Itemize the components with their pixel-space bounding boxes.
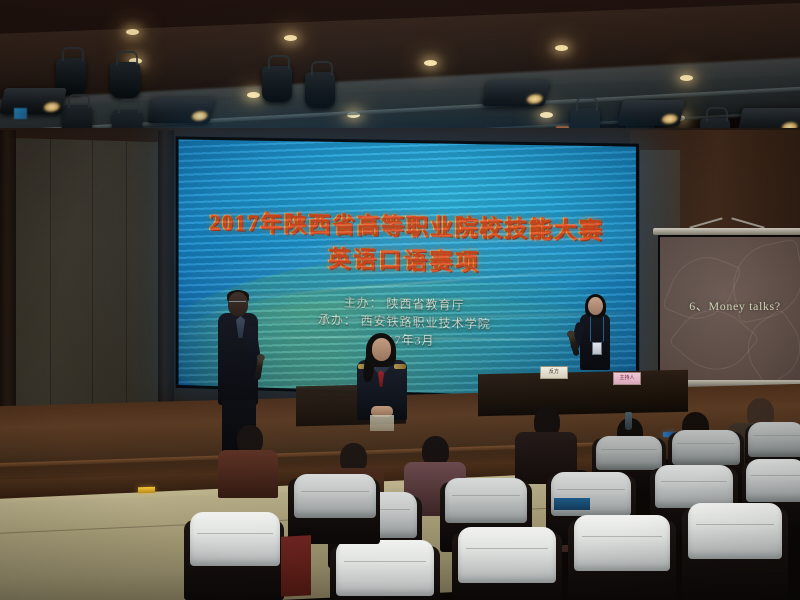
downlight-icon [284,35,297,41]
downlight-icon [247,92,260,98]
nameplate: 反方 [540,366,568,379]
head-table [478,370,688,416]
screen-roller-bar [653,228,800,235]
seat-headrest-cover [672,430,740,465]
water-bottle-icon [625,412,632,430]
aisle-marker-box [281,535,311,597]
audience-body [218,450,278,498]
seat-headrest-cover [336,540,434,596]
fresnel-light-icon [482,80,550,106]
seat-headrest-cover [445,478,527,523]
seat-headrest-cover [748,422,800,457]
par-can-light-icon [305,72,335,108]
presenter-head [588,297,603,315]
downlight-icon [555,45,568,51]
seat-headrest-cover [574,515,670,571]
equipment-case-lid [554,498,590,510]
id-badge [592,342,602,355]
epaulette [394,364,406,369]
projection-surface: 6、Money talks? [658,235,800,385]
seat-headrest-cover [655,465,733,508]
glasses-icon [229,301,246,306]
stage-edge-marker [138,487,155,494]
par-can-light-icon [262,66,292,102]
fresnel-light-icon [147,97,215,123]
seat-headrest-cover [688,503,782,559]
fresnel-light-icon [617,100,685,126]
seat-headrest-cover [190,512,280,566]
projected-question-text: 6、Money talks? [660,297,800,314]
seat-headrest-cover [596,436,662,470]
downlight-icon [424,60,437,66]
uniform-head [372,338,391,361]
downlight-icon [540,112,553,118]
downlight-icon [126,29,139,35]
par-can-light-icon [110,62,140,98]
seat-headrest-cover [294,474,376,518]
seat-headrest-cover [746,459,800,502]
light-gel-icon [14,108,27,119]
downlight-icon [680,75,693,81]
seat-headrest-cover [458,527,556,583]
held-papers [370,415,394,431]
fresnel-light-icon [0,88,67,114]
lanyard [590,316,604,342]
auditorium-photo: 2017年陕西省高等职业院校技能大赛 英语口语赛项 主办： 陕西省教育厅 承办：… [0,0,800,600]
nameplate: 主持人 [613,372,641,385]
